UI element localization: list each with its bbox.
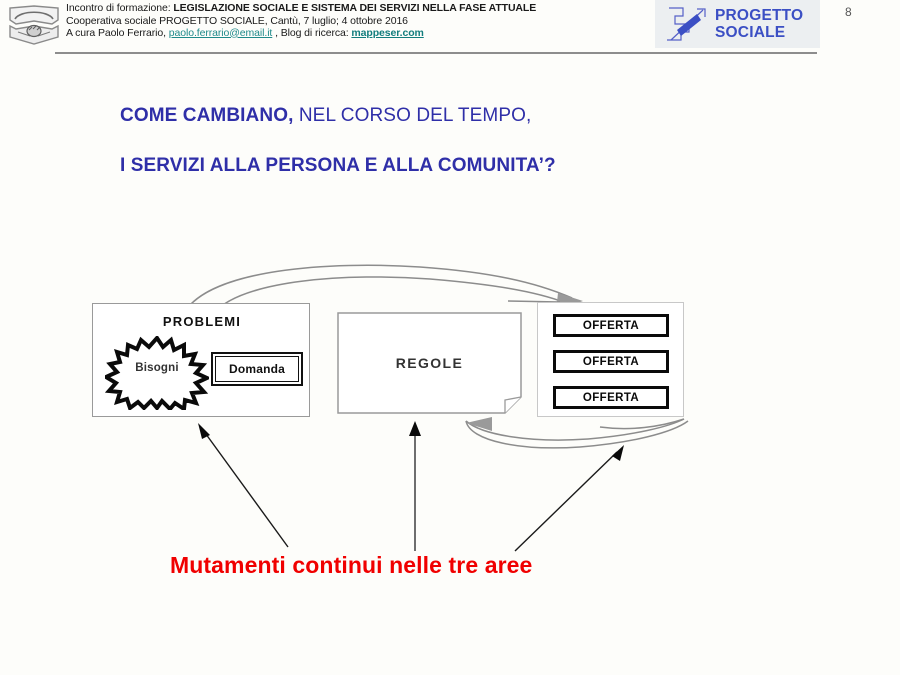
diagram-caption: Mutamenti continui nelle tre aree [170, 552, 532, 579]
progetto-sociale-logo-icon [663, 4, 709, 44]
page-title-line-1: COME CAMBIANO, NEL CORSO DEL TEMPO, [120, 104, 820, 128]
blog-link[interactable]: mappeser.com [351, 27, 423, 39]
header-author-line: A cura Paolo Ferrario, paolo.ferrario@em… [66, 27, 646, 39]
regole-label: REGOLE [338, 355, 521, 371]
header-course-label: Incontro di formazione: [66, 2, 171, 14]
curved-arrow-bottom [466, 417, 688, 448]
header-course-title: Incontro di formazione: LEGISLAZIONE SOC… [66, 3, 646, 15]
problemi-box: PROBLEMI Bisogni Domanda [92, 303, 310, 417]
bisogni-label: Bisogni [105, 362, 209, 374]
open-book-handshake-emblem-icon [8, 4, 60, 46]
offerta-item: OFFERTA [553, 314, 669, 337]
logo-text-line1: PROGETTO [715, 7, 803, 24]
page-title-line-2-text: I SERVIZI ALLA PERSONA E ALLA COMUNITA’? [120, 155, 556, 176]
header-blog-label: , Blog di ricerca: [275, 27, 348, 39]
page-title-line-1-regular: NEL CORSO DEL TEMPO, [299, 105, 532, 126]
arrow-to-offerta [515, 445, 624, 551]
author-email-link[interactable]: paolo.ferrario@email.it [169, 27, 273, 39]
header-author-prefix: A cura Paolo Ferrario, [66, 27, 166, 39]
domanda-box: Domanda [211, 352, 303, 386]
process-diagram: PROBLEMI Bisogni Domanda REGOLE OFFERTA … [0, 255, 900, 595]
page-number: 8 [845, 5, 852, 19]
header-course-name: LEGISLAZIONE SOCIALE E SISTEMA DEI SERVI… [173, 2, 536, 14]
arrow-to-regole [409, 421, 421, 551]
problemi-label: PROBLEMI [93, 314, 311, 329]
page-title-line-2: I SERVIZI ALLA PERSONA E ALLA COMUNITA’? [120, 154, 820, 178]
offerta-item: OFFERTA [553, 350, 669, 373]
logo-text-line2: SOCIALE [715, 24, 803, 41]
header-org-line: Cooperativa sociale PROGETTO SOCIALE, Ca… [66, 15, 646, 27]
arrow-to-problemi [198, 423, 288, 547]
page-title-line-1-bold: COME CAMBIANO, [120, 105, 293, 126]
header-divider [55, 52, 817, 54]
progetto-sociale-logo: PROGETTO SOCIALE [655, 0, 820, 48]
slide-header: Incontro di formazione: LEGISLAZIONE SOC… [0, 0, 900, 60]
regole-box: REGOLE [338, 313, 521, 413]
progetto-sociale-logo-text: PROGETTO SOCIALE [715, 7, 803, 41]
slide-title: COME CAMBIANO, NEL CORSO DEL TEMPO, I SE… [120, 104, 820, 204]
header-text-block: Incontro di formazione: LEGISLAZIONE SOC… [66, 3, 646, 39]
offerta-item: OFFERTA [553, 386, 669, 409]
domanda-label: Domanda [215, 356, 299, 382]
offerta-box: OFFERTA OFFERTA OFFERTA [537, 302, 684, 417]
